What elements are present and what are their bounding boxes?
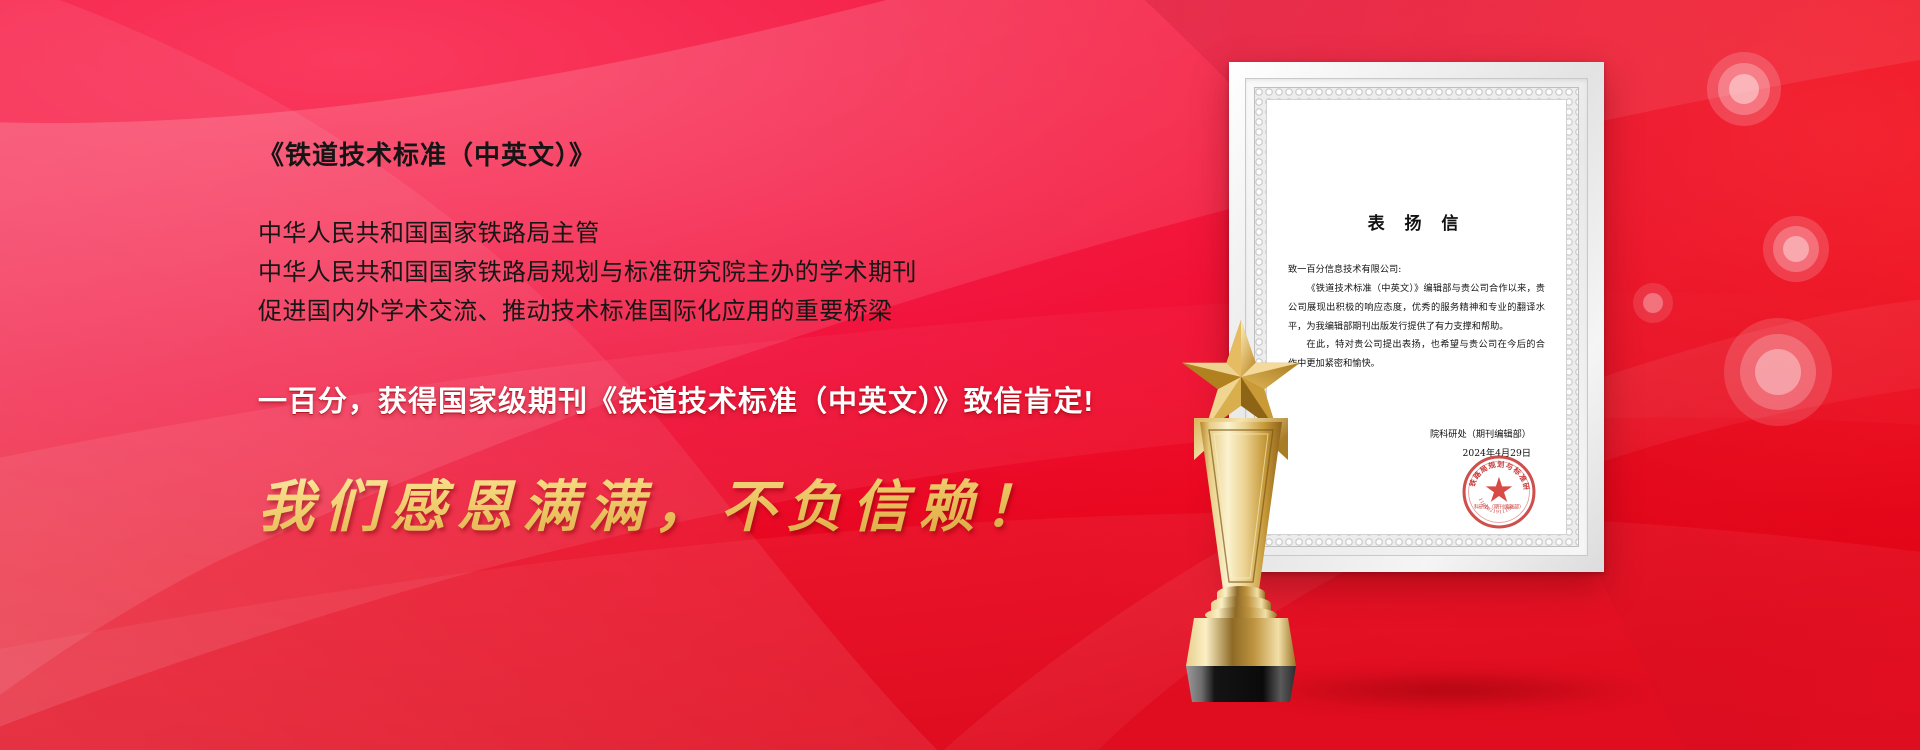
journal-subtitle-0: 中华人民共和国国家铁路局主管 xyxy=(258,215,1138,254)
bokeh-ring-medium xyxy=(1763,216,1829,282)
bokeh-ring-xlarge xyxy=(1724,318,1832,426)
red-official-seal-icon: 铁路局规划与标准研究院 1101021911189 科研处（期刊编辑部） xyxy=(1461,454,1537,530)
gold-star-trophy-icon xyxy=(1146,310,1336,710)
certificate-salutation: 致一百分信息技术有限公司: xyxy=(1288,261,1545,280)
svg-text:1101021911189: 1101021911189 xyxy=(1477,497,1516,515)
award-banner: 《铁道技术标准（中英文）》 中华人民共和国国家铁路局主管 中华人民共和国国家铁路… xyxy=(0,0,1920,750)
gratitude-calligraphy: 我们感恩满满，不负信赖！ xyxy=(258,462,1138,543)
journal-subtitle-list: 中华人民共和国国家铁路局主管 中华人民共和国国家铁路局规划与标准研究院主办的学术… xyxy=(258,215,1138,332)
bokeh-ring-large xyxy=(1707,52,1781,126)
certificate-title: 表 扬 信 xyxy=(1288,209,1545,234)
svg-text:科研处（期刊编辑部）: 科研处（期刊编辑部） xyxy=(1474,504,1524,511)
bokeh-ring-small xyxy=(1633,283,1673,323)
journal-subtitle-1: 中华人民共和国国家铁路局规划与标准研究院主办的学术期刊 xyxy=(258,254,1138,293)
award-headline: 一百分，获得国家级期刊《铁道技术标准（中英文）》致信肯定! xyxy=(258,378,1138,420)
journal-subtitle-2: 促进国内外学术交流、推动技术标准国际化应用的重要桥梁 xyxy=(258,293,1138,332)
journal-title: 《铁道技术标准（中英文）》 xyxy=(258,140,1138,171)
banner-copy: 《铁道技术标准（中英文）》 中华人民共和国国家铁路局主管 中华人民共和国国家铁路… xyxy=(258,140,1138,543)
